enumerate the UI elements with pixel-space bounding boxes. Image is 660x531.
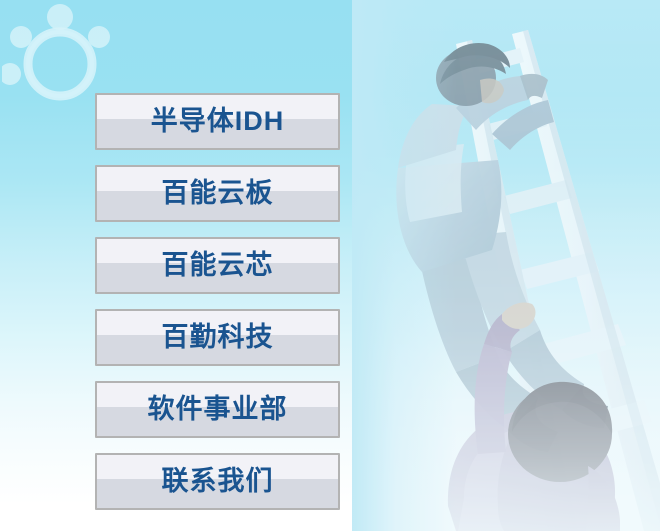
workers-on-ladder-photo: [352, 0, 660, 531]
hub-ring-watermark-logo: [2, 2, 122, 106]
menu-button-baineng-yunxin[interactable]: 百能云芯: [95, 237, 340, 294]
menu-button-contact-us[interactable]: 联系我们: [95, 453, 340, 510]
menu-button-label: 半导体IDH: [97, 95, 338, 148]
menu-button-semiconductor-idh[interactable]: 半导体IDH: [95, 93, 340, 150]
menu-button-label: 百能云板: [97, 167, 338, 220]
page-root: 半导体IDH 百能云板 百能云芯 百勤科技 软件事业部 联系我们: [0, 0, 660, 531]
menu-button-label: 联系我们: [97, 455, 338, 508]
menu-button-label: 软件事业部: [97, 383, 338, 436]
menu-button-label: 百能云芯: [97, 239, 338, 292]
menu-button-baineng-yunban[interactable]: 百能云板: [95, 165, 340, 222]
menu-button-label: 百勤科技: [97, 311, 338, 364]
main-menu: 半导体IDH 百能云板 百能云芯 百勤科技 软件事业部 联系我们: [95, 93, 340, 525]
menu-button-baiqin-technology[interactable]: 百勤科技: [95, 309, 340, 366]
menu-button-software-division[interactable]: 软件事业部: [95, 381, 340, 438]
